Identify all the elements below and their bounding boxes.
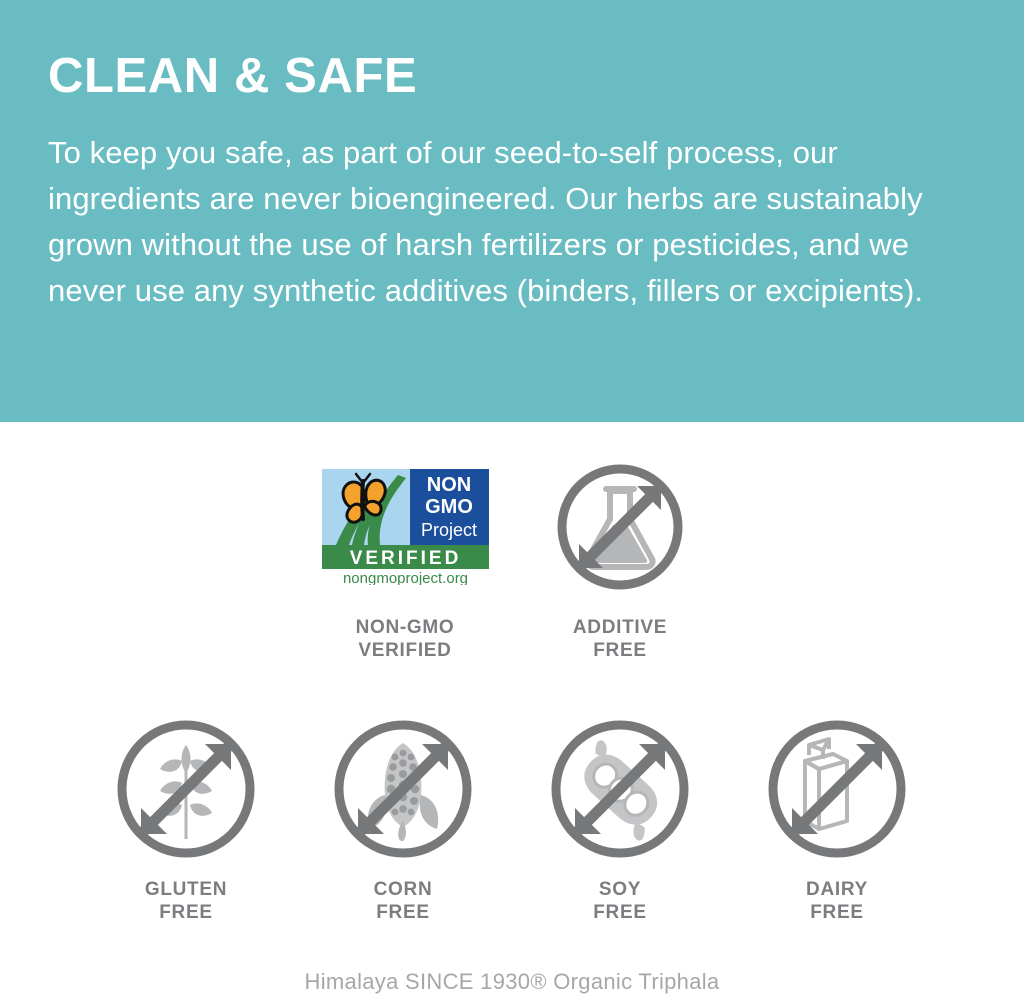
certification-badges: NON GMO Project VERIFIED nongmoproject.o… [0,422,1024,1007]
badge-corn-free: CORN FREE [295,714,511,924]
ngmo-line3: Project [420,520,476,540]
badge-label-corn-free: CORN FREE [295,878,511,924]
ngmo-verified-banner: VERIFIED [349,548,461,569]
ngmo-line2: GMO [425,496,473,518]
badge-art [729,714,945,864]
badge-soy-free: SOY FREE [512,714,728,924]
badge-art [512,714,728,864]
no-wheat-icon [114,717,258,861]
badge-label-soy-free: SOY FREE [512,878,728,924]
badge-label-gluten-free: GLUTEN FREE [78,878,294,924]
badge-non-gmo-verified: NON GMO Project VERIFIED nongmoproject.o… [297,462,513,662]
no-flask-icon [556,463,684,591]
no-corn-icon [331,717,475,861]
no-milk-carton-icon [765,717,909,861]
hero-description: To keep you safe, as part of our seed-to… [48,101,968,314]
ngmo-line1: NON [426,474,470,496]
badge-label-additive-free: ADDITIVE FREE [512,616,728,662]
badge-art [295,714,511,864]
badge-gluten-free: GLUTEN FREE [78,714,294,924]
badge-art [78,714,294,864]
badge-additive-free: ADDITIVE FREE [512,462,728,662]
non-gmo-project-verified-logo: NON GMO Project VERIFIED nongmoproject.o… [322,469,489,585]
product-caption: Himalaya SINCE 1930® Organic Triphala [0,969,1024,995]
badge-label-non-gmo-verified: NON-GMO VERIFIED [297,616,513,662]
badge-art [512,462,728,592]
badge-label-dairy-free: DAIRY FREE [729,878,945,924]
no-soybean-icon [548,717,692,861]
ngmo-url: nongmoproject.org [342,570,467,585]
badge-dairy-free: DAIRY FREE [729,714,945,924]
page-title: CLEAN & SAFE [48,44,976,101]
butterfly [343,474,385,522]
hero-banner: CLEAN & SAFE To keep you safe, as part o… [0,0,1024,422]
badge-art: NON GMO Project VERIFIED nongmoproject.o… [297,462,513,592]
